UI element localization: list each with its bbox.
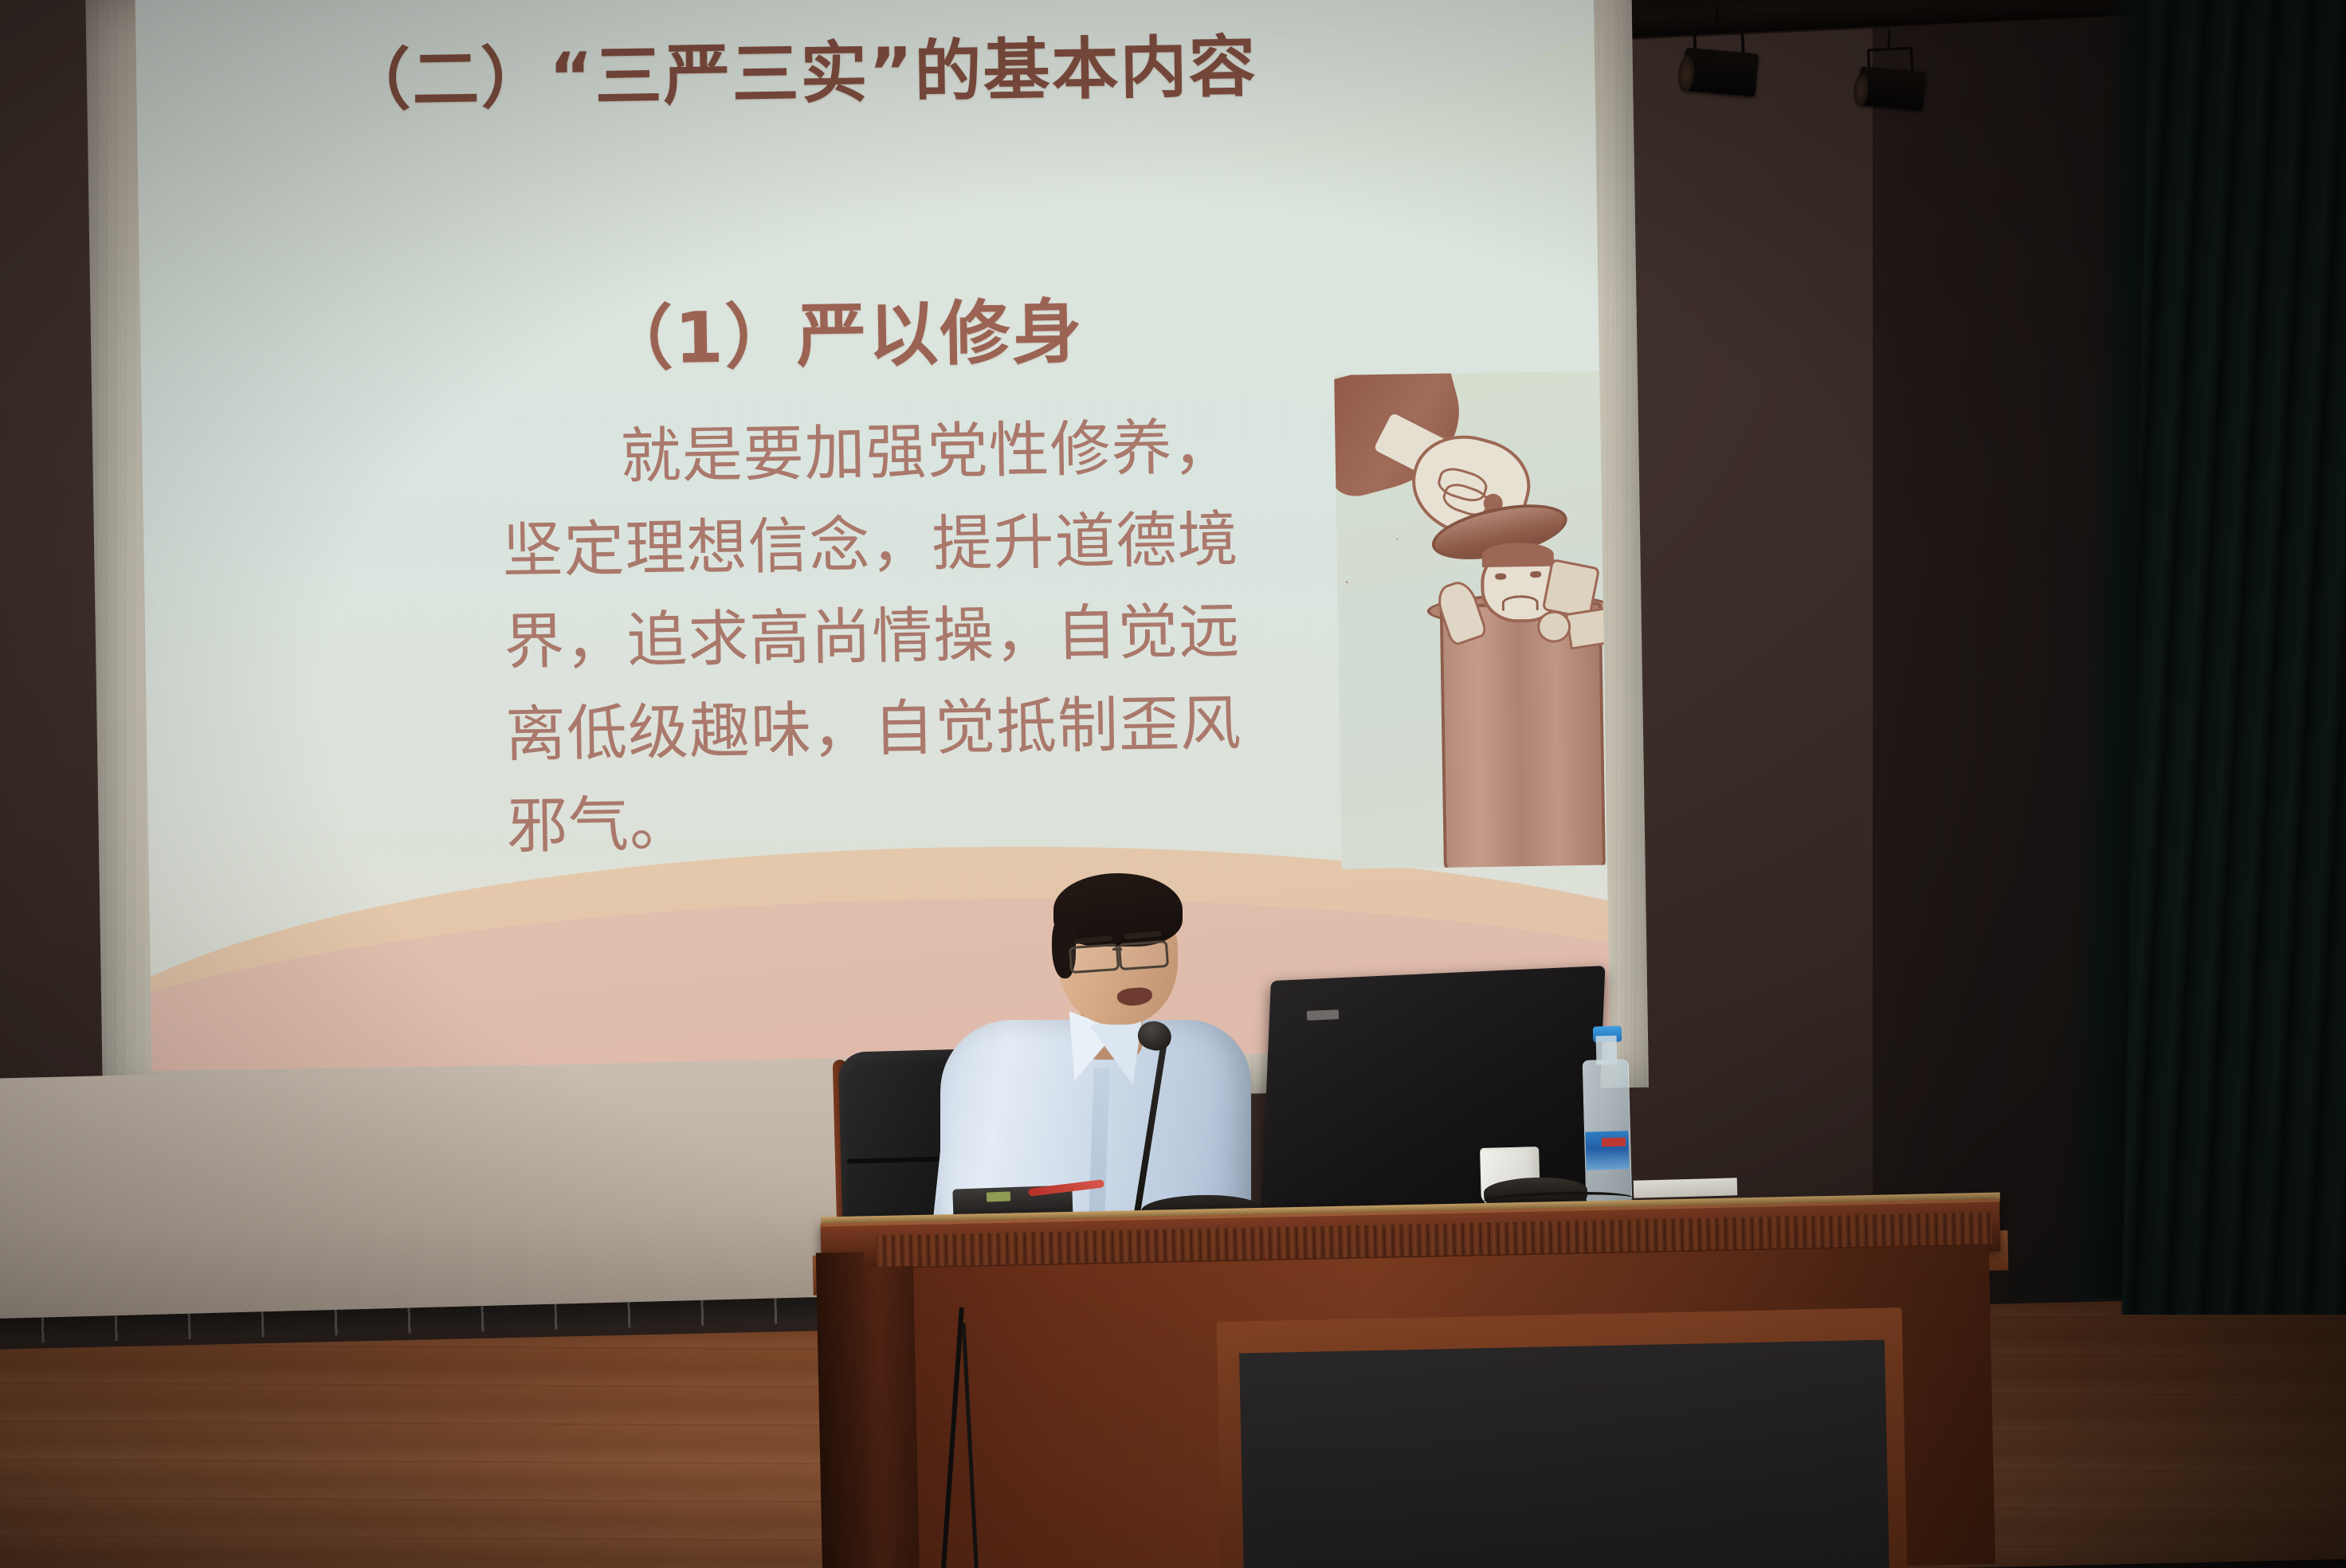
scene-root: （二）“三严三实”的基本内容 （1）严以修身 就是要加强党性修养，坚定理想信念，…: [0, 0, 2346, 1568]
eyeglasses-bridge: [1112, 948, 1122, 951]
desk-papers: [1634, 1178, 1738, 1198]
water-bottle-label-accent: [1602, 1138, 1626, 1147]
podium-left-pillar: [816, 1252, 870, 1568]
slide-illustration-trash-can-cartoon: [1334, 370, 1610, 869]
screen-lower-skirt: [0, 1056, 912, 1335]
slide-subtitle: （1）严以修身: [602, 276, 1084, 384]
presentation-slide: （二）“三严三实”的基本内容 （1）严以修身 就是要加强党性修养，坚定理想信念，…: [135, 0, 1610, 1071]
cartoon-eye-right: [1530, 571, 1541, 578]
slide-body-text: 就是要加强党性修养，坚定理想信念，提升道德境界，追求高尚情操，自觉远离低级趣味，…: [500, 401, 1257, 872]
podium-front-panel: [1239, 1340, 1889, 1568]
stage-curtain: [2122, 0, 2346, 1315]
eyeglasses-lens-right: [1118, 940, 1169, 970]
laptop-logo: [1307, 1009, 1340, 1021]
presenter-remote-indicator: [987, 1191, 1010, 1201]
cartoon-official-hair: [1482, 543, 1554, 567]
cartoon-frown-mouth: [1502, 595, 1539, 611]
cartoon-eye-left: [1495, 574, 1506, 580]
